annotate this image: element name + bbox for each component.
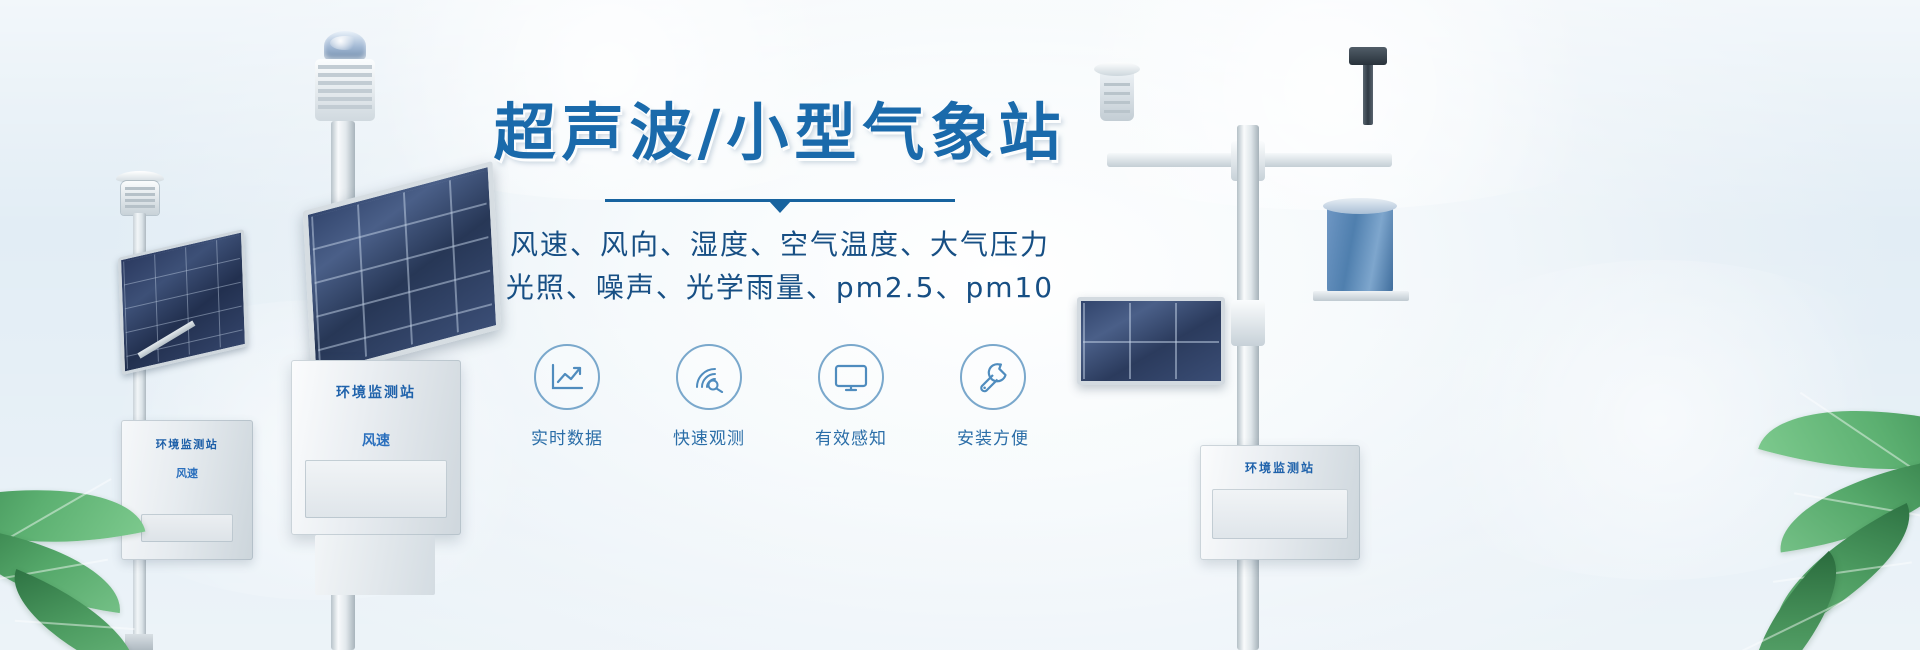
feature-item-fast-observation[interactable]: 快速观测 bbox=[663, 344, 755, 449]
sensor-dome bbox=[324, 31, 366, 61]
weather-station-left: 环境监测站 风速 bbox=[105, 165, 270, 650]
wrench-icon bbox=[975, 360, 1011, 394]
cabinet-door bbox=[1212, 489, 1348, 539]
leaf-shape bbox=[1721, 551, 1869, 650]
mounting-shelf bbox=[1313, 291, 1409, 301]
brand-logo-label: 风速 bbox=[121, 465, 253, 481]
cabinet-lower-box bbox=[315, 535, 435, 595]
radiation-shield bbox=[315, 59, 375, 121]
cabinet-door bbox=[305, 460, 447, 518]
feature-label: 有效感知 bbox=[805, 424, 897, 449]
signal-waves-icon bbox=[691, 361, 727, 393]
mast-pole bbox=[1237, 125, 1259, 650]
subtitle-line-2: 光照、噪声、光学雨量、pm2.5、pm10 bbox=[440, 266, 1120, 309]
feature-item-easy-install[interactable]: 安装方便 bbox=[947, 344, 1039, 449]
feature-list: 实时数据 快速观测 bbox=[440, 344, 1120, 449]
equipment-cabinet: 环境监测站 bbox=[1200, 445, 1360, 560]
background-cloud bbox=[1380, 260, 1920, 580]
feature-item-effective-sensing[interactable]: 有效感知 bbox=[805, 344, 897, 449]
leaf-shape bbox=[1749, 503, 1920, 639]
subtitle-line-1: 风速、风向、湿度、空气温度、大气压力 bbox=[440, 223, 1120, 266]
line-chart-icon bbox=[549, 362, 585, 392]
cabinet-label: 环境监测站 bbox=[1200, 459, 1360, 476]
mast-base bbox=[125, 634, 153, 650]
monitor-icon bbox=[833, 362, 869, 392]
chevron-down-icon bbox=[769, 201, 791, 213]
cabinet-label: 环境监测站 bbox=[129, 436, 245, 452]
feature-item-realtime-data[interactable]: 实时数据 bbox=[521, 344, 613, 449]
rain-gauge bbox=[1327, 205, 1393, 293]
mast-collar bbox=[1231, 300, 1265, 346]
feature-label: 安装方便 bbox=[947, 424, 1039, 449]
leaf-shape bbox=[1771, 457, 1920, 552]
wind-vane-sensor bbox=[1363, 59, 1373, 125]
equipment-cabinet: 环境监测站 风速 bbox=[291, 360, 461, 535]
brand-logo-label: 风速 bbox=[291, 430, 461, 450]
feature-label: 实时数据 bbox=[521, 424, 613, 449]
feature-icon-circle bbox=[818, 344, 884, 410]
leaf-shape bbox=[1758, 372, 1920, 508]
title-divider bbox=[605, 193, 955, 209]
cabinet-label: 环境监测站 bbox=[291, 382, 461, 402]
feature-label: 快速观测 bbox=[663, 424, 755, 449]
hero-banner: 环境监测站 风速 环境监测站 风速 环境监测站 bbox=[0, 0, 1920, 650]
radiation-shield bbox=[121, 181, 159, 215]
feature-icon-circle bbox=[676, 344, 742, 410]
cabinet-vent bbox=[141, 514, 233, 542]
feature-icon-circle bbox=[534, 344, 600, 410]
decorative-leaves-right bbox=[1630, 370, 1920, 650]
page-title: 超声波/小型气象站 bbox=[440, 100, 1120, 165]
banner-content: 超声波/小型气象站 风速、风向、湿度、空气温度、大气压力 光照、噪声、光学雨量、… bbox=[440, 100, 1120, 570]
equipment-cabinet: 环境监测站 风速 bbox=[121, 420, 253, 560]
feature-icon-circle bbox=[960, 344, 1026, 410]
